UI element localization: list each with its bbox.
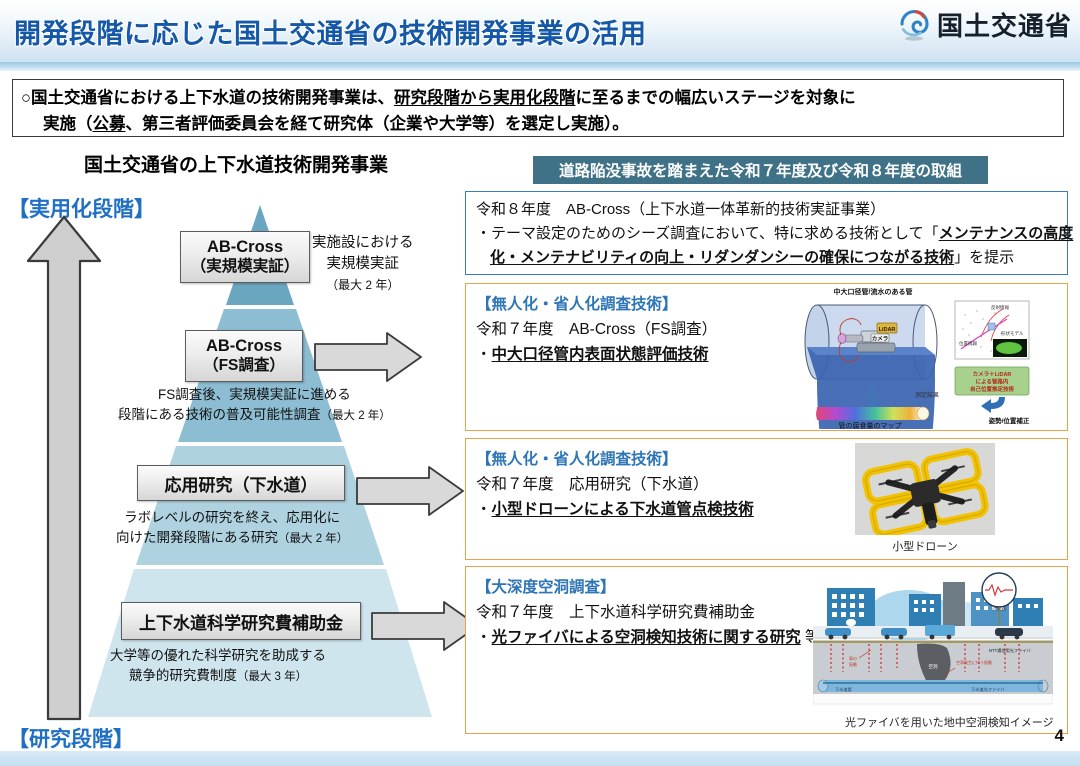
ministry-swirl-logo-icon [899, 8, 929, 42]
header-accent-band [0, 62, 1080, 71]
panel-line-1: 令和７年度 AB-Cross（FS調査） [476, 317, 717, 342]
right-section-banner: 道路陥没事故を踏まえた令和７年度及び令和８年度の取組 [533, 156, 988, 184]
right-arrow-icon [370, 600, 480, 652]
pyramid-label-line1: AB-Cross [207, 237, 283, 257]
panel-text: 【無人化・省人化調査技術】 令和７年度 AB-Cross（FS調査） ・中大口径… [476, 292, 717, 367]
note-line-3: （最大 2 年） [312, 275, 414, 296]
pipe-inspection-diagram: 中大口径管/流水のある管 LiDAR カメラ 測定結果 管の腐食量のマップ [795, 285, 1063, 429]
footer-band [0, 751, 1080, 766]
right-arrow-icon [313, 331, 423, 383]
page-number: 4 [1055, 726, 1064, 746]
panel-heading: 【無人化・省人化調査技術】 [476, 447, 754, 472]
panel-line-1: 令和７年度 応用研究（下水道） [476, 472, 754, 497]
green-box-line3: 自己位置推定技術 [970, 385, 1015, 393]
pyramid-note-abcross-fs: FS調査後、実規模実証に進める 段階にある技術の普及可能性調査（最大 2 年） [118, 385, 391, 426]
panel-text: 令和８年度 AB-Cross（上下水道一体革新的技術実証事業） ・テーマ設定のた… [476, 198, 1073, 270]
pyramid-note-abcross-demo: 実施設における 実規模実証 （最大 2 年） [312, 233, 414, 296]
figure-mid-label: 測定結果 [915, 391, 939, 399]
inset-label-model: 形状モデル [1001, 330, 1024, 337]
pyramid-label-line2: （FS調査） [203, 356, 285, 376]
panel-heading: 【無人化・省人化調査技術】 [476, 292, 717, 317]
right-arrow-icon [355, 465, 465, 517]
intro-line2-emphasis: 公募 [93, 115, 126, 133]
stage-label-research: 【研究段階】 [8, 723, 134, 753]
small-drone-photo [855, 443, 995, 535]
fiber-label-ntt: NTT通信用光ファイバ [989, 647, 1031, 654]
pyramid-label-science-grant: 上下水道科学研究費補助金 [121, 602, 361, 640]
pyramid-label-abcross-demo: AB-Cross （実規模実証） [180, 231, 310, 283]
pyramid-note-applied-research: ラボレベルの研究を終え、応用化に 向けた開発段階にある研究（最大 2 年） [116, 508, 348, 549]
note-line-2: 競争的研究費制度（最大 3 年） [110, 666, 326, 687]
green-box-line2: による管路内 [976, 378, 1009, 386]
fiber-label-car-vibration: 車の [849, 655, 857, 661]
figure-bottom-label: 管の腐食量のマップ [839, 421, 902, 429]
svg-text:振動: 振動 [849, 661, 857, 667]
device-label-lidar: LiDAR [879, 327, 896, 333]
intro-line1-c: に至るまでの幅広いステージを対象に [575, 89, 855, 107]
panel-line-2: ・中大口径管内表面状態評価技術 [476, 342, 717, 367]
note-line-1: 大学等の優れた科学研究を助成する [110, 646, 326, 666]
device-label-camera: カメラ [872, 336, 889, 343]
note-line-2: 実規模実証 [312, 254, 414, 275]
note-line-1: FS調査後、実規模実証に進める [118, 385, 391, 405]
left-section-heading: 国土交通省の上下水道技術開発事業 [84, 150, 388, 177]
panel-text: 【無人化・省人化調査技術】 令和７年度 応用研究（下水道） ・小型ドローンによる… [476, 447, 754, 522]
panel-line-3: 化・メンテナビリティの向上・リダンダンシーの確保につながる技術」を提示 [476, 246, 1073, 270]
panel-line-2: ・テーマ設定のためのシーズ調査において、特に求める技術として「メンテナンスの高度 [476, 222, 1073, 246]
fiber-label-sewer-pipe: 下水道管 [835, 686, 852, 693]
ministry-name: 国土交通省 [937, 6, 1072, 43]
pyramid-note-science-grant: 大学等の優れた科学研究を助成する 競争的研究費制度（最大 3 年） [110, 646, 326, 687]
ministry-logo: 国土交通省 [899, 6, 1072, 43]
panel-line-1: 令和８年度 AB-Cross（上下水道一体革新的技術実証事業） [476, 198, 1073, 222]
pyramid-label-line2: （実規模実証） [191, 257, 300, 277]
fiber-label-cavity: 空洞 [929, 663, 938, 669]
pyramid-label-line1: AB-Cross [206, 336, 282, 356]
pyramid-label-abcross-fs: AB-Cross （FS調査） [185, 330, 303, 382]
panel-line-2: ・小型ドローンによる下水道管点検技術 [476, 497, 754, 522]
note-line-1: ラボレベルの研究を終え、応用化に [116, 508, 348, 528]
pyramid-label-applied-research: 応用研究（下水道） [137, 465, 345, 501]
inset-label-reflect: 反射情報 [991, 304, 1009, 311]
panel-reiwa8-abcross: 令和８年度 AB-Cross（上下水道一体革新的技術実証事業） ・テーマ設定のた… [465, 191, 1068, 275]
fiber-figure-caption: 光ファイバを用いた地中空洞検知イメージ [845, 714, 1025, 730]
fiber-label-cavity-vibration: 空洞発生に伴う振動 [956, 659, 992, 665]
fiber-cavity-detection-diagram: 計測器 空洞 車の 振動 空洞発生に伴う振動 NTT通信用光ファイバ 下水道管 … [813, 572, 1053, 712]
panel-line-1: 令和７年度 上下水道科学研究費補助金 [476, 600, 821, 625]
green-box-line1: カメラ＋LiDAR [973, 371, 1012, 378]
page-title: 開発段階に応じた国土交通省の技術開発事業の活用 [14, 12, 647, 51]
intro-statement-box: ○国土交通省における上下水道の技術開発事業は、研究段階から実用化段階に至るまでの… [12, 79, 1064, 137]
intro-line1-a: ○国土交通省における上下水道の技術開発事業は、 [21, 89, 394, 107]
figure-bottom-right-label: 姿勢/位置補正 [989, 416, 1030, 425]
panel-line-2: ・光ファイバによる空洞検知技術に関する研究 等 [476, 625, 821, 650]
drone-figure-caption: 小型ドローン [885, 538, 965, 554]
panel-heading: 【大深度空洞調査】 [476, 575, 821, 600]
inset-label-position: 位置情報 [959, 340, 977, 347]
intro-line2-a: 実施（ [43, 115, 93, 133]
intro-line2-c: 、第三者評価委員会を経て研究体（企業や大学等）を選定し実施）。 [126, 115, 629, 133]
intro-line1-emphasis: 研究段階から実用化段階 [394, 89, 576, 107]
figure-top-label: 中大口径管/流水のある管 [834, 287, 913, 296]
intro-line-2: 実施（公募、第三者評価委員会を経て研究体（企業や大学等）を選定し実施）。 [21, 111, 1055, 137]
note-line-1: 実施設における [312, 233, 414, 254]
fiber-label-sewer-fiber: 下水道光ファイバ [971, 686, 1004, 693]
panel-text: 【大深度空洞調査】 令和７年度 上下水道科学研究費補助金 ・光ファイバによる空洞… [476, 575, 821, 650]
note-line-2: 段階にある技術の普及可能性調査（最大 2 年） [118, 405, 391, 426]
intro-line-1: ○国土交通省における上下水道の技術開発事業は、研究段階から実用化段階に至るまでの… [21, 85, 1055, 111]
note-line-2: 向けた開発段階にある研究（最大 2 年） [116, 528, 348, 549]
